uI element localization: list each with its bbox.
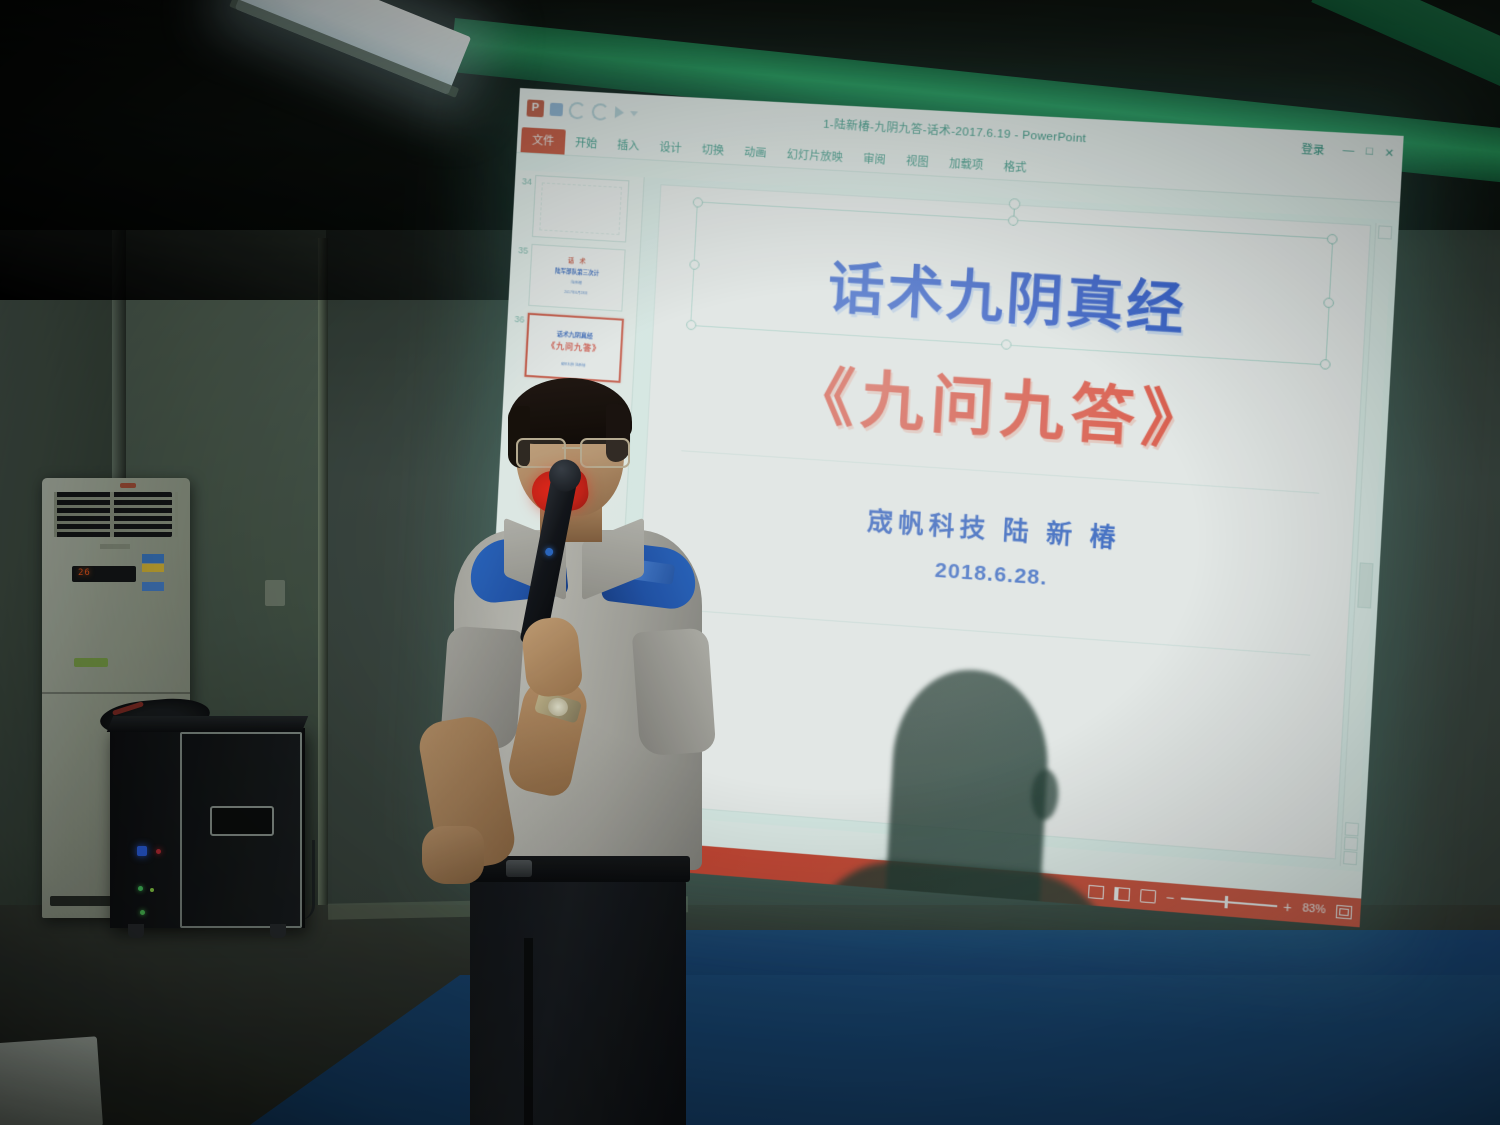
case-led-blue — [137, 846, 147, 856]
window-controls[interactable]: — □ ✕ — [1342, 144, 1394, 160]
ac-energy-label-yellow — [142, 564, 164, 572]
ac-vent-frame — [54, 492, 178, 537]
resize-handle-ne[interactable] — [1327, 234, 1338, 245]
zoom-track[interactable] — [1181, 897, 1277, 907]
photo-scene: 26 P — [0, 0, 1500, 1125]
case-led-green-1 — [138, 886, 143, 891]
rotation-handle[interactable] — [1008, 198, 1020, 210]
scrollbar-thumb[interactable] — [1357, 562, 1373, 608]
wall-socket — [265, 580, 285, 606]
tab-home[interactable]: 开始 — [564, 130, 607, 157]
resize-handle-nw[interactable] — [693, 197, 704, 208]
tab-design[interactable]: 设计 — [649, 134, 693, 161]
resize-handle-sw[interactable] — [686, 320, 697, 331]
thumbnail-line-3: 宬帆科技 陆新椿 — [527, 359, 619, 370]
tab-insert[interactable]: 插入 — [607, 132, 651, 159]
case-handle — [210, 806, 274, 836]
shirt-sleeve-right — [632, 628, 716, 757]
presenter-trousers — [470, 874, 686, 1125]
list-item[interactable]: 34 — [514, 174, 641, 243]
glasses-bridge — [562, 447, 580, 449]
ac-display-text: 26 — [78, 568, 91, 578]
wall-edge — [318, 238, 328, 958]
fit-slide-icon[interactable] — [1336, 904, 1353, 919]
ac-energy-label-blue2 — [142, 582, 164, 591]
ac-sticker — [74, 658, 108, 667]
scroll-down-icon[interactable] — [1345, 822, 1359, 836]
ac-vent-divider — [110, 492, 114, 537]
watch-face — [546, 696, 570, 719]
trouser-leg-gap — [524, 938, 533, 1125]
list-item[interactable]: 35 话 术 陆军部队第三次计 陆新椿 2017年6月28日 — [510, 243, 637, 313]
ac-brand-mark — [120, 483, 136, 488]
ac-panel-seam — [42, 692, 190, 694]
tab-slideshow[interactable]: 幻灯片放映 — [776, 141, 854, 170]
slide-thumbnail[interactable] — [532, 175, 629, 243]
case-led-green-3 — [140, 910, 145, 915]
list-item[interactable]: 36 话术九阴真经 《九问九答》 宬帆科技 陆新椿 — [506, 312, 634, 384]
case-top-panel — [107, 716, 308, 732]
resize-handle-s[interactable] — [1000, 339, 1011, 350]
thumbnail-line-2: 陆军部队第三次计 — [531, 265, 624, 279]
slide-number: 34 — [519, 174, 533, 187]
reading-view-icon[interactable] — [1139, 889, 1155, 904]
ac-led-display: 26 — [72, 566, 136, 582]
maximize-icon[interactable]: □ — [1365, 145, 1373, 159]
case-led-red — [156, 849, 161, 854]
scroll-up-icon[interactable] — [1378, 225, 1392, 239]
tab-file[interactable]: 文件 — [521, 127, 566, 154]
presenter — [420, 378, 750, 1125]
slide-thumbnail-selected[interactable]: 话术九阴真经 《九问九答》 宬帆科技 陆新椿 — [524, 313, 624, 383]
zoom-out-button[interactable]: − — [1166, 892, 1175, 903]
tab-review[interactable]: 审阅 — [852, 146, 896, 174]
sign-in-button[interactable]: 登录 — [1301, 141, 1325, 159]
ac-logo — [100, 544, 130, 549]
tab-transitions[interactable]: 切换 — [691, 137, 735, 165]
white-table — [0, 1036, 103, 1125]
thumbnail-line-4: 2017年6月28日 — [530, 287, 622, 298]
previous-slide-icon[interactable] — [1344, 836, 1358, 850]
zoom-slider[interactable]: − + — [1166, 892, 1293, 912]
sorter-view-icon[interactable] — [1113, 886, 1129, 900]
close-icon[interactable]: ✕ — [1384, 146, 1395, 160]
case-caster-right — [270, 924, 286, 938]
resize-handle-se[interactable] — [1320, 359, 1331, 370]
next-slide-icon[interactable] — [1343, 851, 1357, 865]
zoom-knob[interactable] — [1224, 896, 1228, 909]
case-front-panel — [180, 732, 302, 928]
zoom-level-label[interactable]: 83% — [1302, 902, 1326, 916]
ac-energy-label-blue — [142, 554, 164, 563]
normal-view-icon[interactable] — [1088, 884, 1104, 898]
belt-buckle — [506, 860, 532, 877]
tab-addins[interactable]: 加载项 — [938, 150, 994, 178]
presenter-left-fist — [422, 826, 484, 884]
equipment-flight-case — [110, 728, 305, 928]
presenter-hand-holding-mic — [520, 615, 584, 698]
zoom-in-button[interactable]: + — [1283, 902, 1292, 913]
thumbnail-line-2: 《九问九答》 — [528, 339, 621, 356]
slide-number: 36 — [511, 312, 525, 325]
microphone-indicator — [544, 547, 553, 556]
tab-animations[interactable]: 动画 — [733, 139, 777, 167]
thumbnail-placeholder — [539, 182, 622, 235]
case-caster-left — [128, 924, 144, 938]
slide-divider-bottom — [673, 609, 1310, 656]
minimize-icon[interactable]: — — [1342, 144, 1354, 158]
case-led-green-2 — [150, 888, 154, 892]
glasses-lens-right — [580, 438, 630, 468]
slide-thumbnail[interactable]: 话 术 陆军部队第三次计 陆新椿 2017年6月28日 — [528, 244, 625, 312]
slide-number: 35 — [515, 243, 529, 256]
tab-format[interactable]: 格式 — [993, 153, 1038, 181]
resize-handle-n[interactable] — [1007, 215, 1018, 226]
tab-view[interactable]: 视图 — [895, 148, 939, 176]
